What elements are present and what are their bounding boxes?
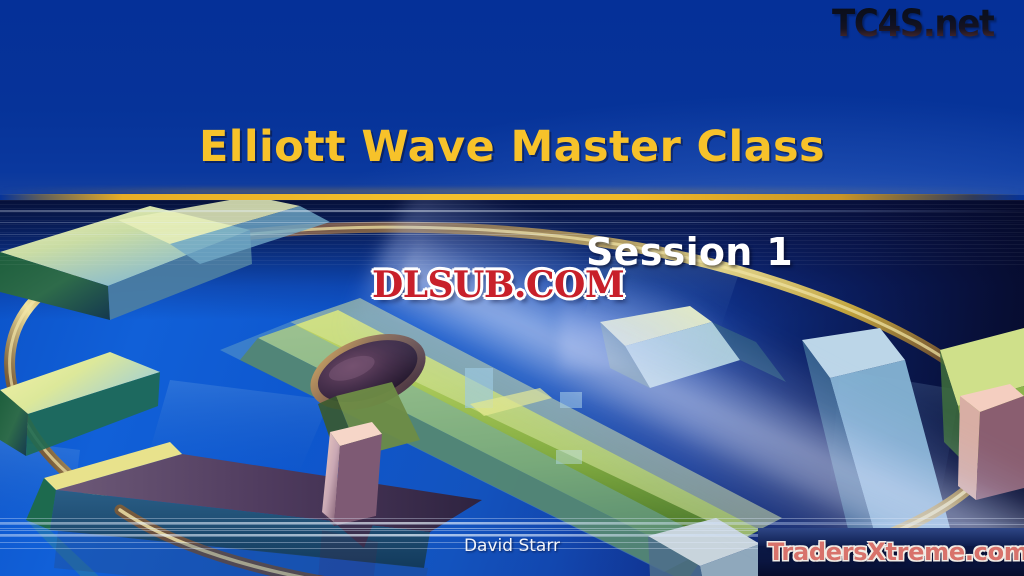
- page-title: Elliott Wave Master Class: [0, 122, 1024, 172]
- scanline-rule-3: [0, 234, 1024, 235]
- dlsub-watermark: DLSUB.COM: [372, 264, 624, 306]
- scanline-rule-4: [0, 522, 1024, 524]
- tc4s-watermark: TC4S.net: [832, 2, 994, 45]
- bottom-panel: [0, 200, 1024, 576]
- gold-divider: [0, 194, 1024, 200]
- presentation-slide: Elliott Wave Master Class Session 1 Davi…: [0, 0, 1024, 576]
- scanline-rule-2: [0, 222, 1024, 223]
- tradersxtreme-watermark: TradersXtreme.com: [768, 538, 1024, 566]
- scanline-rule-1: [0, 210, 1024, 212]
